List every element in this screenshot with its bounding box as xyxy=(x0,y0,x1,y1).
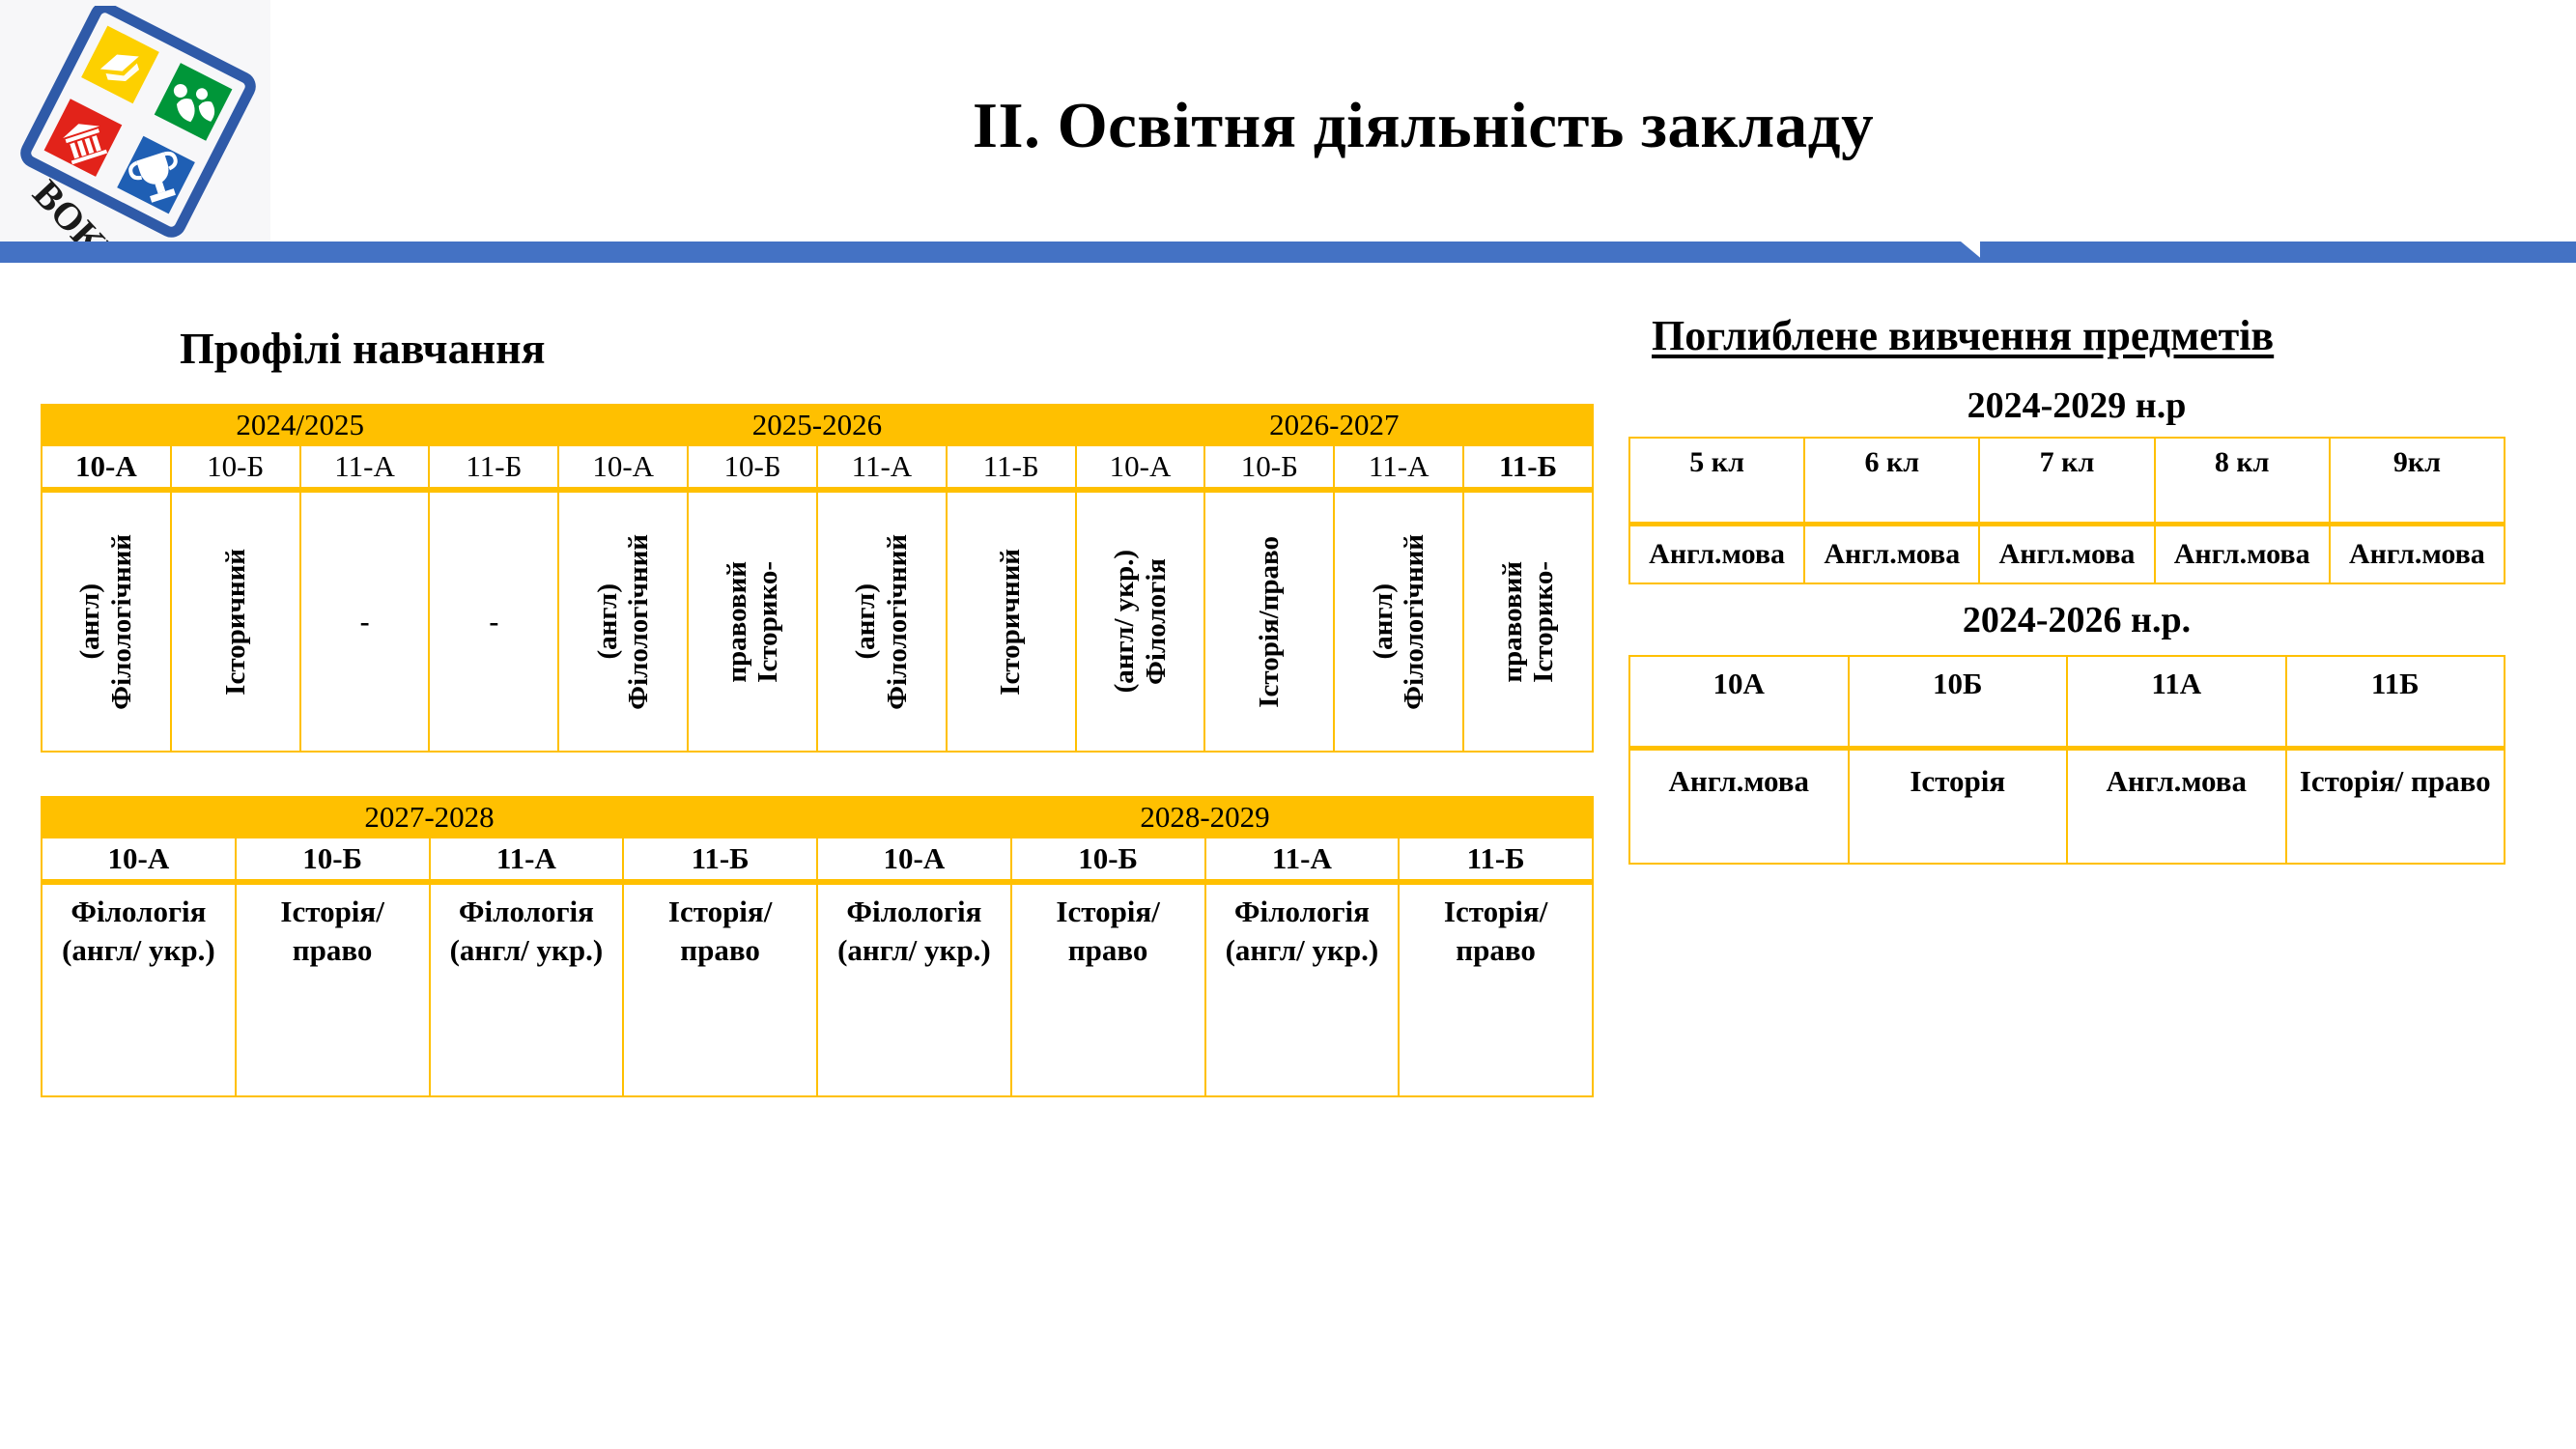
class-header-row: 5 кл6 кл7 кл8 кл9кл xyxy=(1629,438,2505,525)
class-header-3: 11-Б xyxy=(623,838,817,882)
class-header-7: 11-Б xyxy=(1399,838,1593,882)
year-group-label: 2026-2027 xyxy=(1076,405,1593,445)
vertical-text-wrap: Філологія(англ/ укр.) xyxy=(1079,503,1203,741)
profile-line-0: Історико- xyxy=(753,561,782,683)
profile-cell-4: Філологічний(англ) xyxy=(558,490,688,752)
vertical-text-wrap: Філологічний(англ) xyxy=(1337,503,1460,741)
class-header-row: 10А10Б11А11Б xyxy=(1629,656,2505,749)
profile-cell-1: Історичний xyxy=(171,490,300,752)
grade-header-2: 7 кл xyxy=(1979,438,2154,525)
vertical-text-wrap: Філологічний(англ) xyxy=(44,503,168,741)
profile-line-1: (англ) xyxy=(851,583,880,660)
grade-header-0: 10А xyxy=(1629,656,1849,749)
class-header-7: 11-Б xyxy=(947,445,1076,490)
class-header-11: 11-Б xyxy=(1463,445,1593,490)
class-header-2: 11-А xyxy=(300,445,430,490)
class-header-1: 10-Б xyxy=(171,445,300,490)
grade-header-0: 5 кл xyxy=(1629,438,1804,525)
class-header-6: 11-А xyxy=(817,445,947,490)
table-row: Філологія (англ/ укр.)Історія/ правоФіло… xyxy=(42,882,1593,1096)
year-group-label: 2024/2025 xyxy=(42,405,558,445)
profile-line-0: Історія/право xyxy=(1255,536,1284,708)
class-header-2: 11-А xyxy=(430,838,624,882)
vertical-text-wrap: Історія/право xyxy=(1207,503,1331,741)
profile-cell-4: Філологія (англ/ укр.) xyxy=(817,882,1011,1096)
class-header-4: 10-А xyxy=(817,838,1011,882)
profile-line-0: Філологічний xyxy=(107,534,136,710)
class-header-row: 10-А10-Б11-А11-Б10-А10-Б11-А11-Б xyxy=(42,838,1593,882)
profile-line-0: Історичний xyxy=(996,549,1025,696)
class-header-10: 11-А xyxy=(1334,445,1463,490)
profile-cell-11: Історико-правовий xyxy=(1463,490,1593,752)
profile-line-1: (англ) xyxy=(1369,583,1398,660)
logo-panel: ВОКМС xyxy=(0,0,270,249)
deep-study-section-heading: Поглиблене вивчення предметів xyxy=(1652,311,2274,360)
profile-line-1: правовий xyxy=(722,561,751,683)
year-group-label: 2027-2028 xyxy=(42,797,817,838)
grade-header-3: 8 кл xyxy=(2155,438,2330,525)
vokms-logo-icon: ВОКМС xyxy=(17,6,259,247)
grade-header-4: 9кл xyxy=(2330,438,2505,525)
class-header-0: 10-А xyxy=(42,838,236,882)
page-title: II. Освітня діяльність закладу xyxy=(270,89,2576,163)
subject-cell-0: Англ.мова xyxy=(1629,525,1804,584)
profile-line-1: (англ/ укр.) xyxy=(1110,550,1139,693)
title-area: II. Освітня діяльність закладу xyxy=(270,0,2576,241)
subject-cell-1: Англ.мова xyxy=(1804,525,1979,584)
class-header-9: 10-Б xyxy=(1204,445,1334,490)
subject-cell-1: Історія xyxy=(1849,749,2068,865)
profile-line-0: Історико- xyxy=(1529,561,1558,683)
profile-line-1: правовий xyxy=(1498,561,1527,683)
slide-header: ВОКМС II. Освітня діяльність закладу xyxy=(0,0,2576,249)
class-header-3: 11-Б xyxy=(429,445,558,490)
profile-cell-3: - xyxy=(429,490,558,752)
vertical-text-wrap: Історичний xyxy=(174,503,297,741)
class-header-0: 10-А xyxy=(42,445,171,490)
class-header-8: 10-А xyxy=(1076,445,1205,490)
profile-cell-7: Історія/ право xyxy=(1399,882,1593,1096)
profile-line-0: Філологія xyxy=(1142,558,1171,685)
class-header-5: 10-Б xyxy=(688,445,817,490)
grade-header-1: 6 кл xyxy=(1804,438,1979,525)
profile-cell-0: Філологія (англ/ укр.) xyxy=(42,882,236,1096)
vertical-text-wrap: Історичний xyxy=(949,503,1073,741)
profile-cell-2: Філологія (англ/ укр.) xyxy=(430,882,624,1096)
grade-header-2: 11А xyxy=(2067,656,2286,749)
subject-cell-2: Англ.мова xyxy=(2067,749,2286,865)
class-header-1: 10-Б xyxy=(236,838,430,882)
deep-study-table-2024-2029: 5 кл6 кл7 кл8 кл9кл Англ.моваАнгл.моваАн… xyxy=(1628,437,2505,584)
profile-line-0: Філологічний xyxy=(624,534,653,710)
deep-study-caption-2024-2029: 2024-2029 н.р xyxy=(1652,384,2502,427)
profile-cell-0: Філологічний(англ) xyxy=(42,490,171,752)
class-header-row: 10-А10-Б11-А11-Б10-А10-Б11-А11-Б10-А10-Б… xyxy=(42,445,1593,490)
vertical-text-wrap: Філологічний(англ) xyxy=(820,503,944,741)
class-header-6: 11-А xyxy=(1205,838,1400,882)
subject-cell-2: Англ.мова xyxy=(1979,525,2154,584)
profile-cell-7: Історичний xyxy=(947,490,1076,752)
profile-cell-6: Філологія (англ/ укр.) xyxy=(1205,882,1400,1096)
profile-cell-2: - xyxy=(300,490,430,752)
profile-cell-8: Філологія(англ/ укр.) xyxy=(1076,490,1205,752)
class-header-4: 10-А xyxy=(558,445,688,490)
vertical-text-wrap: Історико-правовий xyxy=(691,503,814,741)
profile-cell-3: Історія/ право xyxy=(623,882,817,1096)
subject-cell-3: Історія/ право xyxy=(2286,749,2505,865)
profiles-table-2024-2027: 2024/20252025-20262026-2027 10-А10-Б11-А… xyxy=(41,404,1594,753)
subject-cell-4: Англ.мова xyxy=(2330,525,2505,584)
profile-cell-9: Історія/право xyxy=(1204,490,1334,752)
class-header-5: 10-Б xyxy=(1011,838,1205,882)
subject-cell-3: Англ.мова xyxy=(2155,525,2330,584)
profile-cell-10: Філологічний(англ) xyxy=(1334,490,1463,752)
profile-line-1: (англ) xyxy=(593,583,622,660)
vertical-text-wrap: Філологічний(англ) xyxy=(561,503,685,741)
profile-line-0: Історичний xyxy=(221,549,250,696)
year-group-label: 2028-2029 xyxy=(817,797,1593,838)
profile-cell-6: Філологічний(англ) xyxy=(817,490,947,752)
grade-header-1: 10Б xyxy=(1849,656,2068,749)
subject-cell-0: Англ.мова xyxy=(1629,749,1849,865)
profile-cell-5: Історія/ право xyxy=(1011,882,1205,1096)
year-band-row: 2024/20252025-20262026-2027 xyxy=(42,405,1593,445)
grade-header-3: 11Б xyxy=(2286,656,2505,749)
profiles-section-heading: Профілі навчання xyxy=(180,323,546,374)
profile-cell-1: Історія/ право xyxy=(236,882,430,1096)
deep-study-table-2024-2026: 10А10Б11А11Б Англ.моваІсторіяАнгл.моваІс… xyxy=(1628,655,2505,865)
profile-line-0: Філологічний xyxy=(1400,534,1429,710)
table-row: Філологічний(англ)Історичний--Філологічн… xyxy=(42,490,1593,752)
profile-empty-dash: - xyxy=(432,606,555,639)
profile-line-1: (англ) xyxy=(75,583,104,660)
header-accent-bar-right xyxy=(1980,241,2576,263)
profiles-table-2027-2029: 2027-20282028-2029 10-А10-Б11-А11-Б10-А1… xyxy=(41,796,1594,1097)
vertical-text-wrap: Історико-правовий xyxy=(1466,503,1590,741)
year-group-label: 2025-2026 xyxy=(558,405,1075,445)
profile-cell-5: Історико-правовий xyxy=(688,490,817,752)
year-band-row: 2027-20282028-2029 xyxy=(42,797,1593,838)
profile-empty-dash: - xyxy=(303,606,427,639)
table-row: Англ.моваАнгл.моваАнгл.моваАнгл.моваАнгл… xyxy=(1629,525,2505,584)
table-row: Англ.моваІсторіяАнгл.моваІсторія/ право xyxy=(1629,749,2505,865)
profile-line-0: Філологічний xyxy=(883,534,912,710)
deep-study-caption-2024-2026: 2024-2026 н.р. xyxy=(1652,599,2502,641)
